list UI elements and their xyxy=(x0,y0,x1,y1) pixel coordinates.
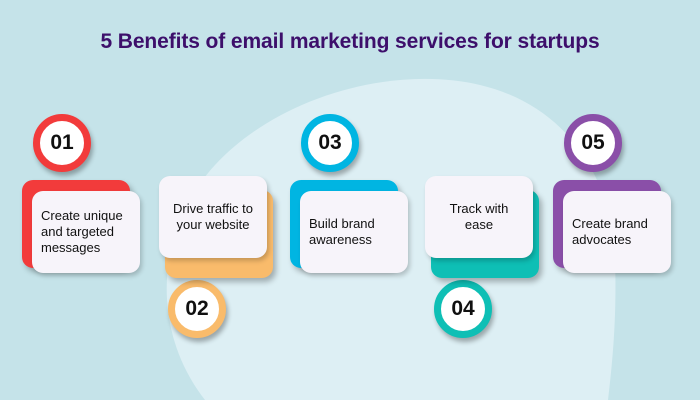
step-number-circle: 04 xyxy=(434,280,492,338)
step-card-03: Build brand awareness xyxy=(290,180,414,280)
step-number-circle: 01 xyxy=(33,114,91,172)
step-item-01[interactable]: 01 Create unique and targeted messages xyxy=(22,110,146,370)
step-card-face: Create unique and targeted messages xyxy=(32,191,140,273)
infographic-canvas: 5 Benefits of email marketing services f… xyxy=(0,0,700,400)
step-card-01: Create unique and targeted messages xyxy=(22,180,146,280)
step-badge-01: 01 xyxy=(33,114,91,172)
step-number-label: 05 xyxy=(581,131,604,155)
step-card-02: Drive traffic to your website xyxy=(157,176,281,276)
step-card-04: Track with ease xyxy=(423,176,547,276)
step-item-02[interactable]: 02 Drive traffic to your website xyxy=(157,110,281,370)
step-number-circle: 02 xyxy=(168,280,226,338)
step-badge-02: 02 xyxy=(168,280,226,338)
step-card-face: Track with ease xyxy=(425,176,533,258)
step-card-text: Create brand advocates xyxy=(572,216,662,248)
step-card-face: Create brand advocates xyxy=(563,191,671,273)
step-badge-05: 05 xyxy=(564,114,622,172)
step-card-text: Track with ease xyxy=(434,201,524,233)
step-number-circle: 05 xyxy=(564,114,622,172)
step-item-04[interactable]: 04 Track with ease xyxy=(423,110,547,370)
step-card-05: Create brand advocates xyxy=(553,180,677,280)
step-number-label: 04 xyxy=(451,297,474,321)
step-card-face: Drive traffic to your website xyxy=(159,176,267,258)
step-card-text: Create unique and targeted messages xyxy=(41,208,131,256)
step-badge-04: 04 xyxy=(434,280,492,338)
step-number-circle: 03 xyxy=(301,114,359,172)
step-card-text: Drive traffic to your website xyxy=(168,201,258,233)
step-badge-03: 03 xyxy=(301,114,359,172)
step-item-05[interactable]: 05 Create brand advocates xyxy=(553,110,677,370)
step-number-label: 02 xyxy=(185,297,208,321)
step-item-03[interactable]: 03 Build brand awareness xyxy=(290,110,414,370)
step-card-face: Build brand awareness xyxy=(300,191,408,273)
step-card-text: Build brand awareness xyxy=(309,216,399,248)
page-title: 5 Benefits of email marketing services f… xyxy=(0,30,700,54)
step-number-label: 03 xyxy=(318,131,341,155)
step-number-label: 01 xyxy=(50,131,73,155)
